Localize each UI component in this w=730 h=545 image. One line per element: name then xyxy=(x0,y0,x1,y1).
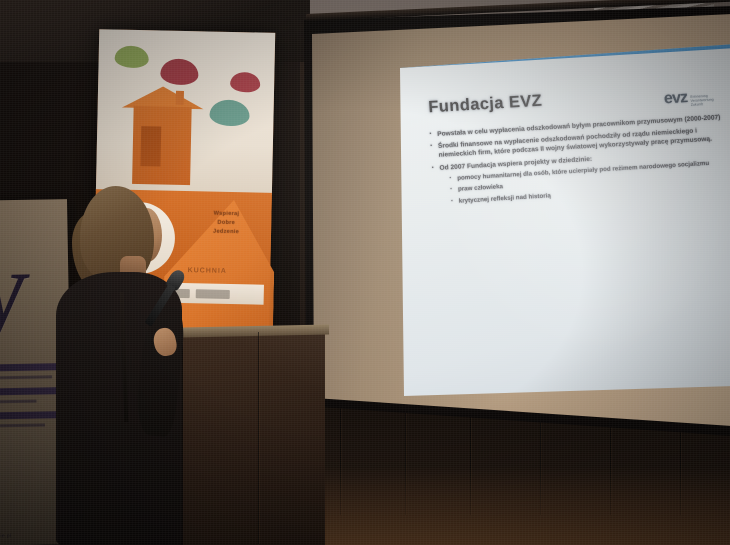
conference-photo: Fundacja EVZ evz Erinnerung Verantwortun… xyxy=(0,0,730,545)
projection-screen: Fundacja EVZ evz Erinnerung Verantwortun… xyxy=(300,6,730,438)
slide-bullet-list: Powstała w celu wypłacenia odszkodowań b… xyxy=(428,113,730,211)
evz-logo-subtext: Erinnerung Verantwortung Zukunft xyxy=(690,93,715,106)
evz-logo: evz Erinnerung Verantwortung Zukunft xyxy=(663,87,715,108)
slide-title: Fundacja EVZ xyxy=(428,92,543,118)
presenter xyxy=(58,186,208,545)
lectern-side-edge xyxy=(258,332,259,544)
evz-wordmark: evz xyxy=(663,89,688,108)
poster-house-icon xyxy=(130,86,194,187)
floor-light-spill xyxy=(300,467,730,545)
projected-slide: Fundacja EVZ evz Erinnerung Verantwortun… xyxy=(400,44,730,396)
